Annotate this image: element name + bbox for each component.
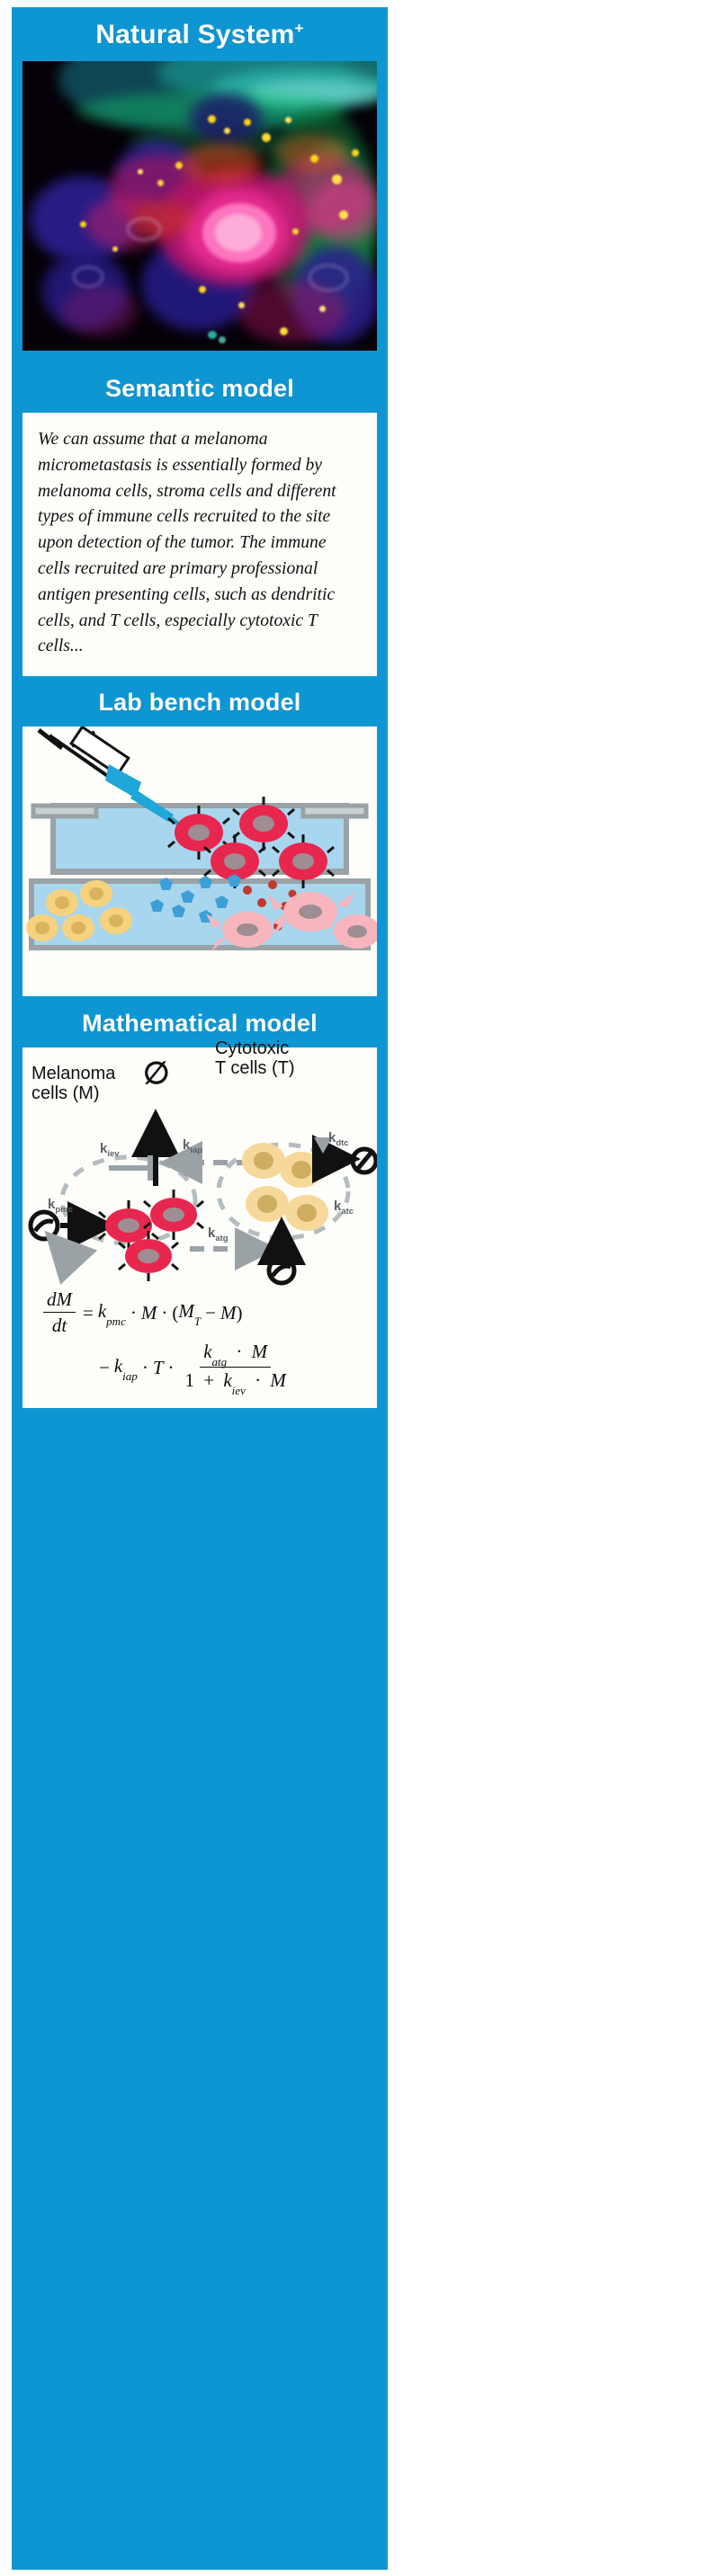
eq-dot-1: · [130,1302,137,1324]
derivative-numerator: dM [43,1288,76,1313]
eq-dot-6: · [255,1369,261,1391]
panel-semantic-model: Semantic model We can assume that a mela… [12,363,388,676]
transwell-co-culture-schematic [22,726,377,996]
mathematical-model-card: Melanoma cells (M) Cytotoxic T cells (T)… [22,1047,377,1407]
michaelis-numerator: katg · M [200,1341,271,1368]
rate-label-k-atg: katg [208,1226,229,1243]
derivative-denominator: dt [49,1313,70,1337]
label-tcells-line1: Cytotoxic [215,1038,295,1058]
rate-label-k-atc: katc [334,1199,354,1217]
michaelis-fraction: katg · M 1 + kiev · M [182,1341,290,1395]
eq-dot-4: · [168,1357,175,1379]
panel-title-lab-bench-model: Lab bench model [12,676,388,726]
label-cytotoxic-t-cells: Cytotoxic T cells (T) [215,1038,295,1078]
panel-title-natural-system: Natural System+ [12,7,388,61]
panel-lab-bench-model: Lab bench model [12,676,388,996]
micrograph-container [12,61,388,363]
eq-MT: MT [178,1300,201,1325]
label-melanoma-cells: Melanoma cells (M) [31,1064,115,1103]
null-sink-right [353,1149,376,1172]
label-melanoma-line1: Melanoma [31,1064,115,1083]
panel-title-natural-system-text: Natural System [95,20,294,49]
label-tcells-line2: T cells (T) [215,1058,295,1078]
eq-plus: + [203,1369,214,1391]
eq-dot-2: · [161,1302,167,1324]
eq-minus-outer: − [99,1357,110,1379]
panel-natural-system: Natural System+ [12,7,388,363]
semantic-model-text: We can assume that a melanoma micrometas… [38,427,362,660]
eq-dot-5: · [236,1341,242,1362]
panel-title-superscript: + [295,20,304,37]
eq-T: T [153,1357,164,1379]
eq-minus-inner: − [205,1302,216,1324]
eq-k-atg: katg [203,1341,227,1362]
null-source-left [31,1212,58,1239]
michaelis-denominator: 1 + kiev · M [182,1368,290,1395]
equation-line-2: − kiap · T · katg · M 1 + [40,1341,361,1395]
eq-dot-3: · [142,1357,148,1379]
panel-title-semantic-model: Semantic model [12,363,388,413]
eq-M-4: M [270,1369,286,1391]
eq-M-2: M [220,1302,237,1324]
equals-sign: = [83,1302,94,1324]
modelling-workflow-figure: Natural System+ [12,7,388,2570]
eq-M-1: M [141,1302,157,1324]
melanoma-cells-cluster [99,1190,203,1281]
rate-label-k-iev: kiev [100,1141,120,1159]
eq-one: 1 [185,1369,195,1391]
reaction-network-diagram: Melanoma cells (M) Cytotoxic T cells (T)… [22,1055,377,1287]
null-source-right [269,1258,294,1283]
eq-k-iap: kiap [114,1355,138,1380]
rate-label-k-iap: kiap [183,1137,202,1155]
eq-M-3: M [252,1341,268,1362]
model-equation: dM dt = kpmc · M · ( MT − M ) − kiap [22,1287,377,1395]
label-melanoma-line2: cells (M) [31,1083,115,1103]
eq-paren-close: ) [236,1302,242,1324]
transwell-svg [22,726,377,996]
cytotoxic-t-cells-cluster [242,1143,328,1231]
panel-mathematical-model: Mathematical model [12,996,388,1407]
semantic-model-card: We can assume that a melanoma micrometas… [22,413,377,676]
rate-label-k-pmc: kpmc [48,1197,73,1215]
derivative-fraction: dM dt [43,1288,76,1337]
panel-title-mathematical-model: Mathematical model [12,996,388,1047]
null-symbol-melanoma: ∅ [143,1058,170,1089]
eq-k-iev: kiev [223,1369,246,1391]
melanoma-micrometastasis-micrograph [22,61,377,351]
eq-k-pmc: kpmc [98,1300,126,1325]
rate-label-k-dtc: kdtc [328,1130,349,1148]
equation-line-1: dM dt = kpmc · M · ( MT − M ) [40,1288,361,1337]
